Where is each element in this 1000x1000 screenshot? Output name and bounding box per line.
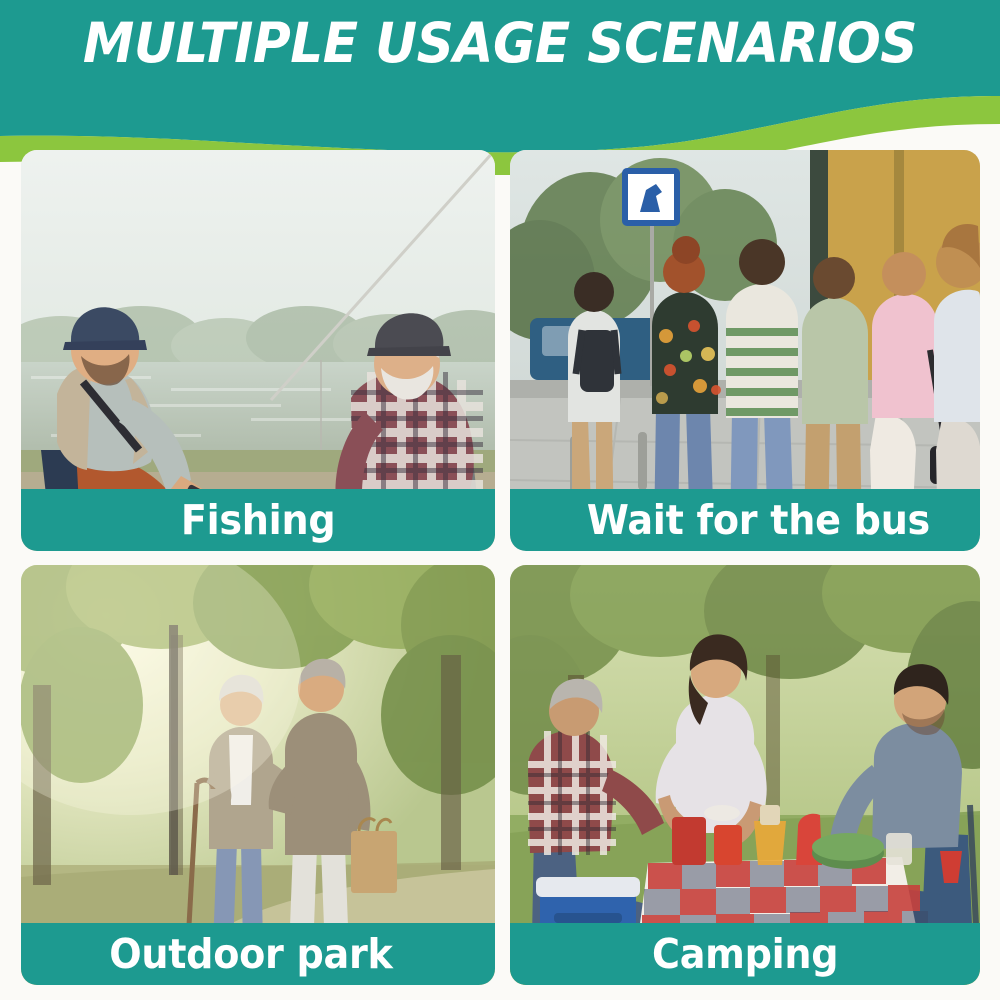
card-label-outdoor-park: Outdoor park (21, 923, 495, 985)
card-label-camping: Camping (510, 923, 980, 985)
outdoor-park-photo (21, 565, 495, 985)
camping-photo (510, 565, 980, 985)
card-label-text: Camping (652, 932, 838, 976)
card-label-wait-for-the-bus: Wait for the bus (510, 489, 980, 551)
scenario-card-wait-for-the-bus[interactable]: Wait for the bus (510, 150, 980, 551)
scenario-grid: Fishing (0, 0, 1000, 1000)
scenario-card-fishing[interactable]: Fishing (21, 150, 495, 551)
page-title: MULTIPLE USAGE SCENARIOS (30, 9, 970, 77)
scenario-card-outdoor-park[interactable]: Outdoor park (21, 565, 495, 985)
usage-scenarios-poster: MULTIPLE USAGE SCENARIOS (0, 0, 1000, 1000)
card-label-text: Fishing (181, 498, 336, 542)
card-label-text: Outdoor park (109, 932, 392, 976)
card-label-text: Wait for the bus (586, 498, 929, 542)
card-label-fishing: Fishing (21, 489, 495, 551)
scenario-card-camping[interactable]: Camping (510, 565, 980, 985)
